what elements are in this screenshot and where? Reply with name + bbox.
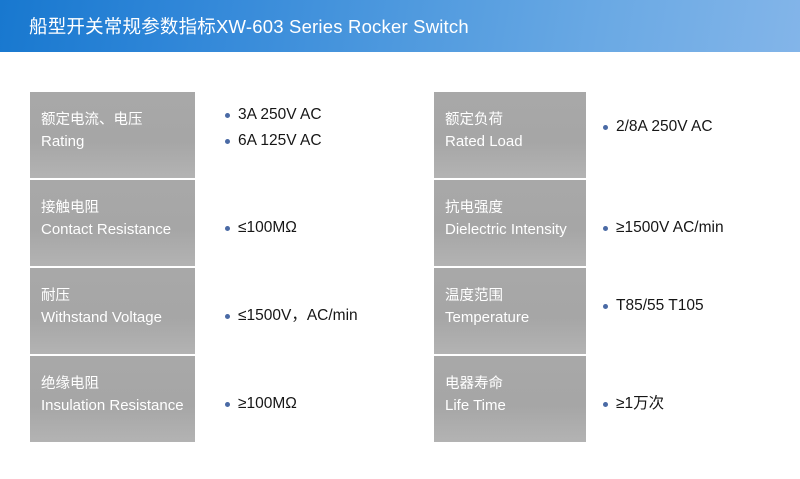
spec-label-cn: 温度范围 bbox=[445, 286, 586, 307]
bullet-icon bbox=[225, 139, 230, 144]
bullet-icon bbox=[225, 226, 230, 231]
spec-value: ≥100MΩ bbox=[211, 391, 451, 417]
spec-label-en: Rating bbox=[41, 131, 195, 153]
bullet-icon bbox=[225, 113, 230, 118]
spec-row: 接触电阻 Contact Resistance ≤100MΩ bbox=[30, 180, 420, 266]
spec-value-text: ≤100MΩ bbox=[238, 219, 297, 236]
spec-row: 电器寿命 Life Time ≥1万次 bbox=[434, 356, 786, 442]
spec-value-text: ≤1500V，AC/min bbox=[238, 307, 358, 324]
spec-label-dielectric-intensity: 抗电强度 Dielectric Intensity bbox=[434, 180, 586, 266]
bullet-icon bbox=[603, 402, 608, 407]
right-column: 额定负荷 Rated Load 2/8A 250V AC 抗电强度 Dielec… bbox=[434, 92, 786, 444]
spec-row: 额定负荷 Rated Load 2/8A 250V AC bbox=[434, 92, 786, 178]
spec-value-text: 2/8A 250V AC bbox=[616, 118, 713, 135]
spec-label-en: Temperature bbox=[445, 307, 586, 329]
spec-row: 绝缘电阻 Insulation Resistance ≥100MΩ bbox=[30, 356, 420, 442]
spec-label-en: Insulation Resistance bbox=[41, 395, 195, 417]
spec-label-contact-resistance: 接触电阻 Contact Resistance bbox=[30, 180, 195, 266]
spec-value-text: ≥100MΩ bbox=[238, 395, 297, 412]
spec-table: 额定电流、电压 Rating 3A 250V AC 6A 125V AC bbox=[0, 92, 800, 444]
spec-values: 3A 250V AC 6A 125V AC bbox=[211, 92, 451, 178]
bullet-icon bbox=[603, 226, 608, 231]
spec-label-en: Life Time bbox=[445, 395, 586, 417]
spec-row: 抗电强度 Dielectric Intensity ≥1500V AC/min bbox=[434, 180, 786, 266]
spec-row: 温度范围 Temperature T85/55 T105 bbox=[434, 268, 786, 354]
spec-label-cn: 接触电阻 bbox=[41, 198, 195, 219]
spec-label-en: Rated Load bbox=[445, 131, 586, 153]
spec-label-cn: 抗电强度 bbox=[445, 198, 586, 219]
spec-label-cn: 额定电流、电压 bbox=[41, 110, 195, 131]
bullet-icon bbox=[603, 125, 608, 130]
spec-value: 2/8A 250V AC bbox=[589, 114, 800, 140]
spec-label-temperature: 温度范围 Temperature bbox=[434, 268, 586, 354]
spec-values: ≤100MΩ bbox=[211, 180, 451, 266]
bullet-icon bbox=[603, 304, 608, 309]
spec-slide: 船型开关常规参数指标XW-603 Series Rocker Switch 额定… bbox=[0, 0, 800, 479]
spec-values: ≥100MΩ bbox=[211, 356, 451, 442]
page-title: 船型开关常规参数指标XW-603 Series Rocker Switch bbox=[29, 15, 469, 39]
bullet-icon bbox=[225, 402, 230, 407]
spec-label-insulation-resistance: 绝缘电阻 Insulation Resistance bbox=[30, 356, 195, 442]
spec-value-text: 6A 125V AC bbox=[238, 132, 322, 149]
spec-value: ≥1万次 bbox=[589, 391, 800, 417]
spec-value: 6A 125V AC bbox=[211, 128, 451, 154]
spec-row: 额定电流、电压 Rating 3A 250V AC 6A 125V AC bbox=[30, 92, 420, 178]
spec-value: ≥1500V AC/min bbox=[589, 215, 800, 241]
spec-label-en: Dielectric Intensity bbox=[445, 219, 586, 241]
spec-value-text: T85/55 T105 bbox=[616, 297, 704, 314]
spec-value: T85/55 T105 bbox=[589, 293, 800, 319]
spec-values: ≥1500V AC/min bbox=[589, 180, 800, 266]
spec-label-cn: 电器寿命 bbox=[445, 374, 586, 395]
spec-values: ≤1500V，AC/min bbox=[211, 268, 451, 354]
spec-value-text: ≥1500V AC/min bbox=[616, 219, 724, 236]
spec-value-text: 3A 250V AC bbox=[238, 106, 322, 123]
spec-value-text: ≥1万次 bbox=[616, 395, 664, 412]
header-band: 船型开关常规参数指标XW-603 Series Rocker Switch bbox=[0, 0, 800, 52]
spec-values: ≥1万次 bbox=[589, 356, 800, 442]
spec-label-en: Withstand Voltage bbox=[41, 307, 195, 329]
spec-label-cn: 绝缘电阻 bbox=[41, 374, 195, 395]
left-column: 额定电流、电压 Rating 3A 250V AC 6A 125V AC bbox=[30, 92, 420, 444]
spec-value: 3A 250V AC bbox=[211, 102, 451, 128]
spec-label-cn: 额定负荷 bbox=[445, 110, 586, 131]
spec-value: ≤100MΩ bbox=[211, 215, 451, 241]
spec-values: 2/8A 250V AC bbox=[589, 92, 800, 178]
spec-label-en: Contact Resistance bbox=[41, 219, 195, 241]
spec-row: 耐压 Withstand Voltage ≤1500V，AC/min bbox=[30, 268, 420, 354]
bullet-icon bbox=[225, 314, 230, 319]
spec-label-life-time: 电器寿命 Life Time bbox=[434, 356, 586, 442]
spec-values: T85/55 T105 bbox=[589, 268, 800, 354]
spec-label-rating: 额定电流、电压 Rating bbox=[30, 92, 195, 178]
spec-label-withstand-voltage: 耐压 Withstand Voltage bbox=[30, 268, 195, 354]
spec-label-rated-load: 额定负荷 Rated Load bbox=[434, 92, 586, 178]
spec-label-cn: 耐压 bbox=[41, 286, 195, 307]
spec-value: ≤1500V，AC/min bbox=[211, 303, 451, 329]
